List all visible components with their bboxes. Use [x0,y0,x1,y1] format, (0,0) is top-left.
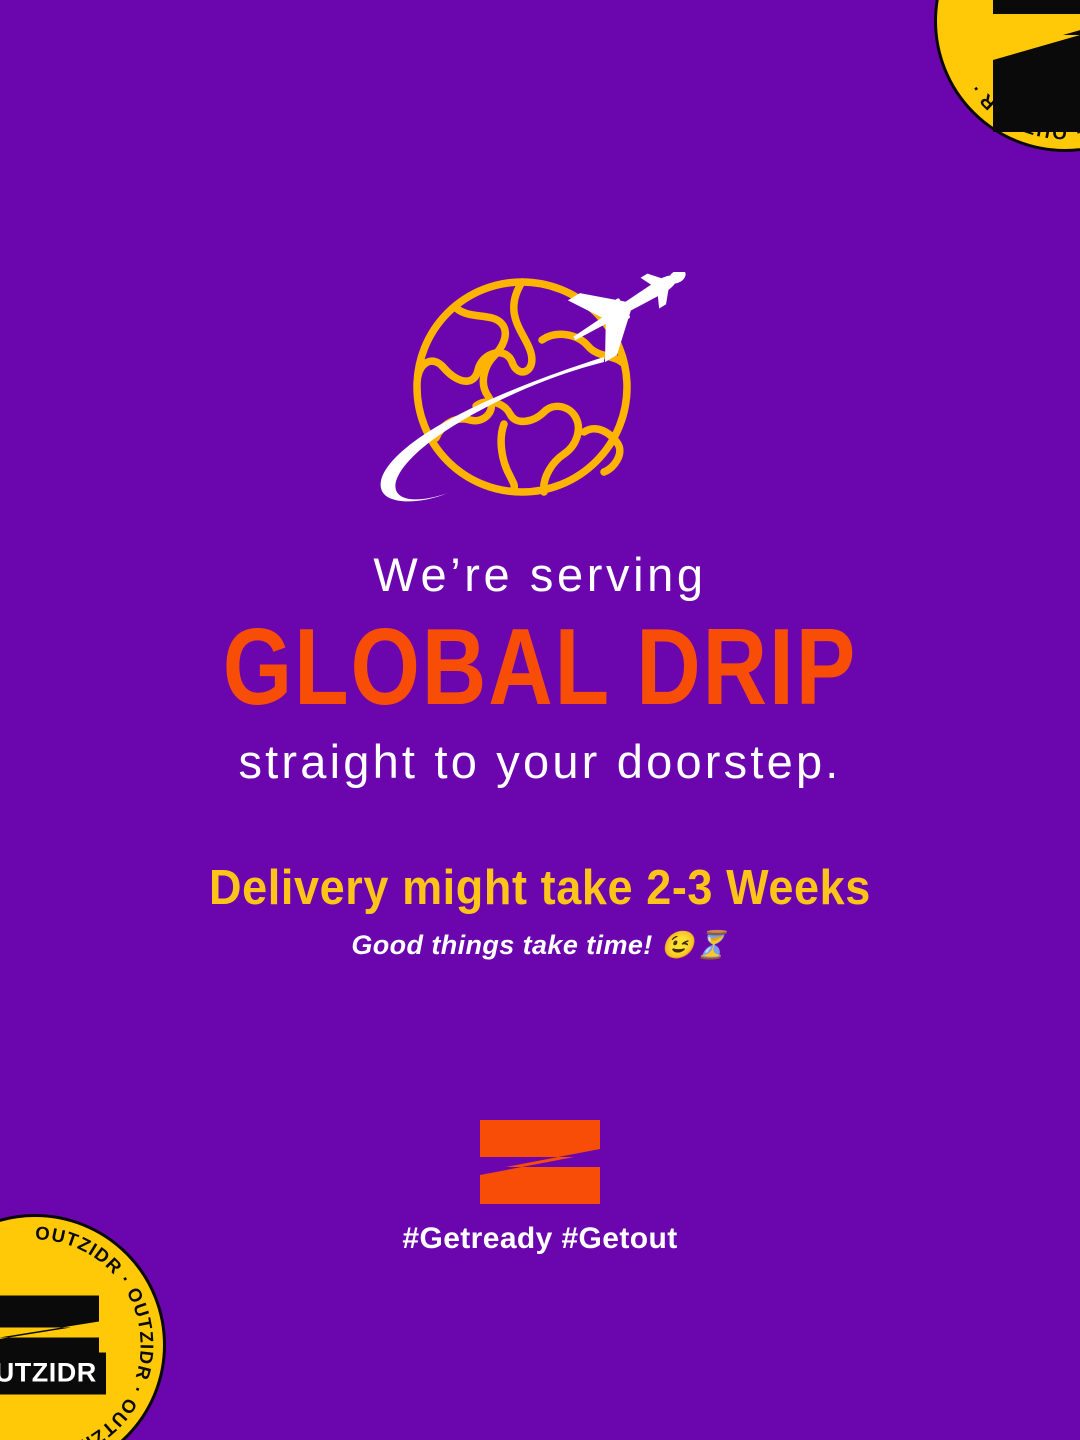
outzidr-badge-bottom-left: OUTZIDR · OUTZIDR · OUTZIDR · OUTZIDR · … [0,1214,166,1440]
hashtags-text: #Getready #Getout [402,1222,677,1256]
globe-airplane-illustration [352,272,712,517]
badge-core: OUTZIDR [0,1296,111,1395]
airplane-icon [556,272,704,369]
eyebrow-text: We’re serving [0,548,1080,603]
delivery-notice: Delivery might take 2-3 Weeks [0,860,1080,914]
badge-big-z-icon [993,0,1080,132]
subhead-text: straight to your doorstep. [0,735,1080,790]
page-title: GLOBAL DRIP [16,611,1064,725]
outzidr-badge-top-right: OUTZIDR · OUTZIDR · OUTZIDR · OUTZIDR · [934,0,1080,152]
delivery-subnote: Good things take time! 😉⏳ [0,931,1080,961]
promo-poster: We’re serving GLOBAL DRIP straight to yo… [0,0,1080,1440]
badge-wordmark: OUTZIDR [0,1353,106,1395]
copy-block: We’re serving GLOBAL DRIP straight to yo… [0,548,1080,961]
outzidr-z-logo-icon [480,1120,600,1204]
